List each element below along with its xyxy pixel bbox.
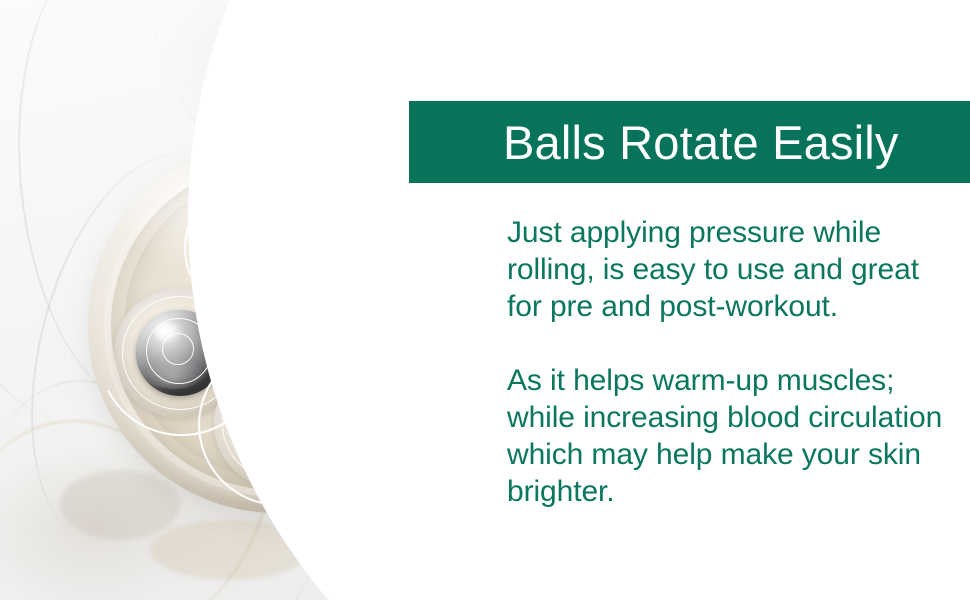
content-pane: Balls Rotate Easily Just applying pressu… xyxy=(0,0,970,600)
description-block: Just applying pressure while rolling, is… xyxy=(507,214,959,510)
product-feature-banner: Balls Rotate Easily Just applying pressu… xyxy=(0,0,970,600)
page-title: Balls Rotate Easily xyxy=(503,119,899,166)
title-banner: Balls Rotate Easily xyxy=(409,101,970,183)
description-paragraph-1: Just applying pressure while rolling, is… xyxy=(507,214,959,325)
description-paragraph-2: As it helps warm-up muscles; while incre… xyxy=(507,362,959,510)
